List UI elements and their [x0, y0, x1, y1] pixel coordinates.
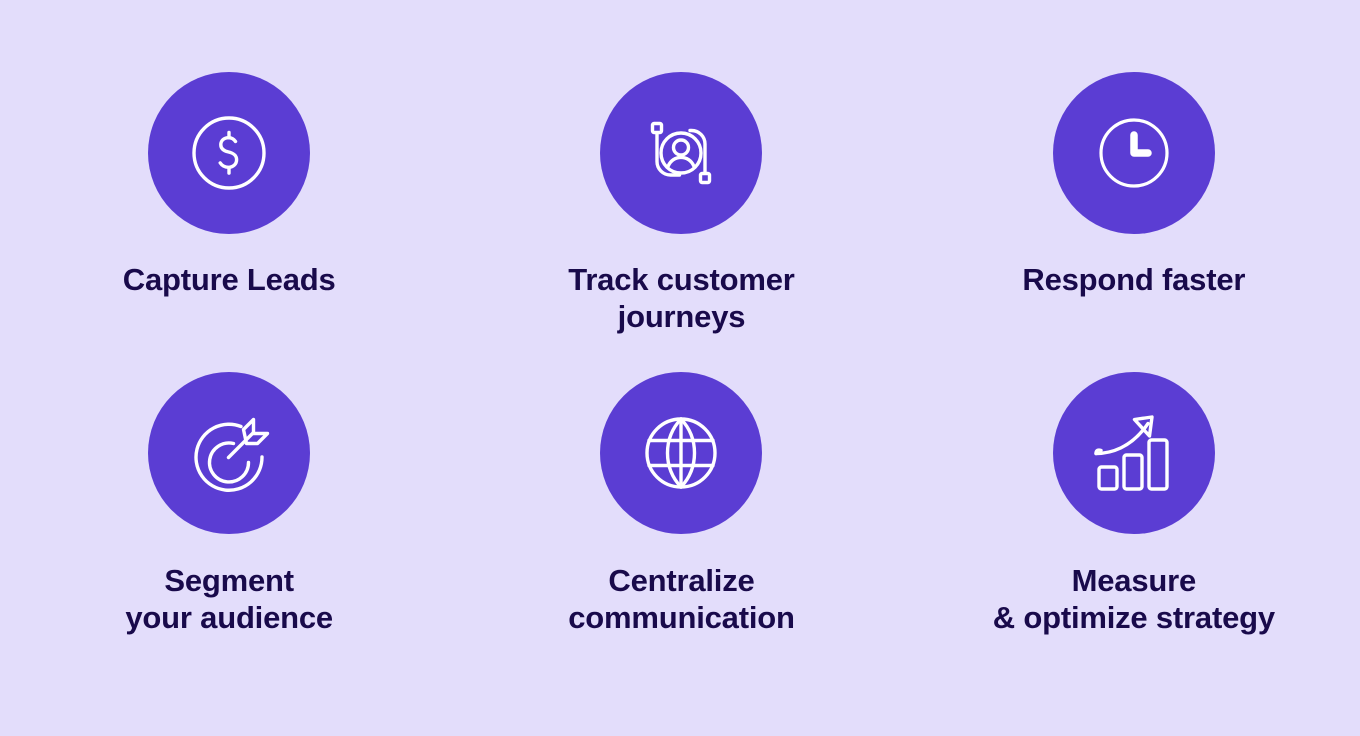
icon-badge [1053, 72, 1215, 234]
feature-label-line1: Centralize [608, 563, 754, 598]
feature-label-line2: your audience [125, 600, 333, 637]
clock-icon [1088, 107, 1180, 199]
feature-label-line1: Track customer [568, 262, 794, 297]
feature-card-measure-optimize-strategy: Measure & optimize strategy [908, 372, 1360, 672]
icon-badge [600, 72, 762, 234]
feature-label-line1: Respond faster [1022, 262, 1245, 297]
feature-label: Track customer journeys [568, 262, 794, 335]
icon-badge [600, 372, 762, 534]
feature-label-line1: Capture Leads [123, 262, 336, 297]
feature-label-line2: journeys [568, 299, 794, 336]
globe-icon [634, 406, 728, 500]
feature-card-track-customer-journeys: Track customer journeys [455, 72, 907, 372]
icon-badge [1053, 372, 1215, 534]
feature-card-respond-faster: Respond faster [908, 72, 1360, 372]
feature-label-line2: communication [568, 600, 794, 637]
icon-badge [148, 72, 310, 234]
growth-chart-icon [1086, 405, 1182, 501]
icon-badge [148, 372, 310, 534]
target-arrow-icon [181, 405, 277, 501]
feature-card-centralize-communication: Centralize communication [455, 372, 907, 672]
customer-journey-icon [635, 107, 727, 199]
feature-card-capture-leads: Capture Leads [3, 72, 455, 372]
dollar-coin-icon [183, 107, 275, 199]
feature-label: Respond faster [1022, 262, 1245, 299]
feature-grid: Capture Leads Track customer journeys [0, 0, 1360, 736]
feature-label-line1: Segment [164, 563, 294, 598]
feature-label: Measure & optimize strategy [993, 563, 1275, 636]
feature-label: Segment your audience [125, 563, 333, 636]
feature-label-line1: Measure [1072, 563, 1196, 598]
feature-card-segment-your-audience: Segment your audience [3, 372, 455, 672]
feature-label-line2: & optimize strategy [993, 600, 1275, 637]
feature-label: Centralize communication [568, 563, 794, 636]
feature-label: Capture Leads [123, 262, 336, 299]
